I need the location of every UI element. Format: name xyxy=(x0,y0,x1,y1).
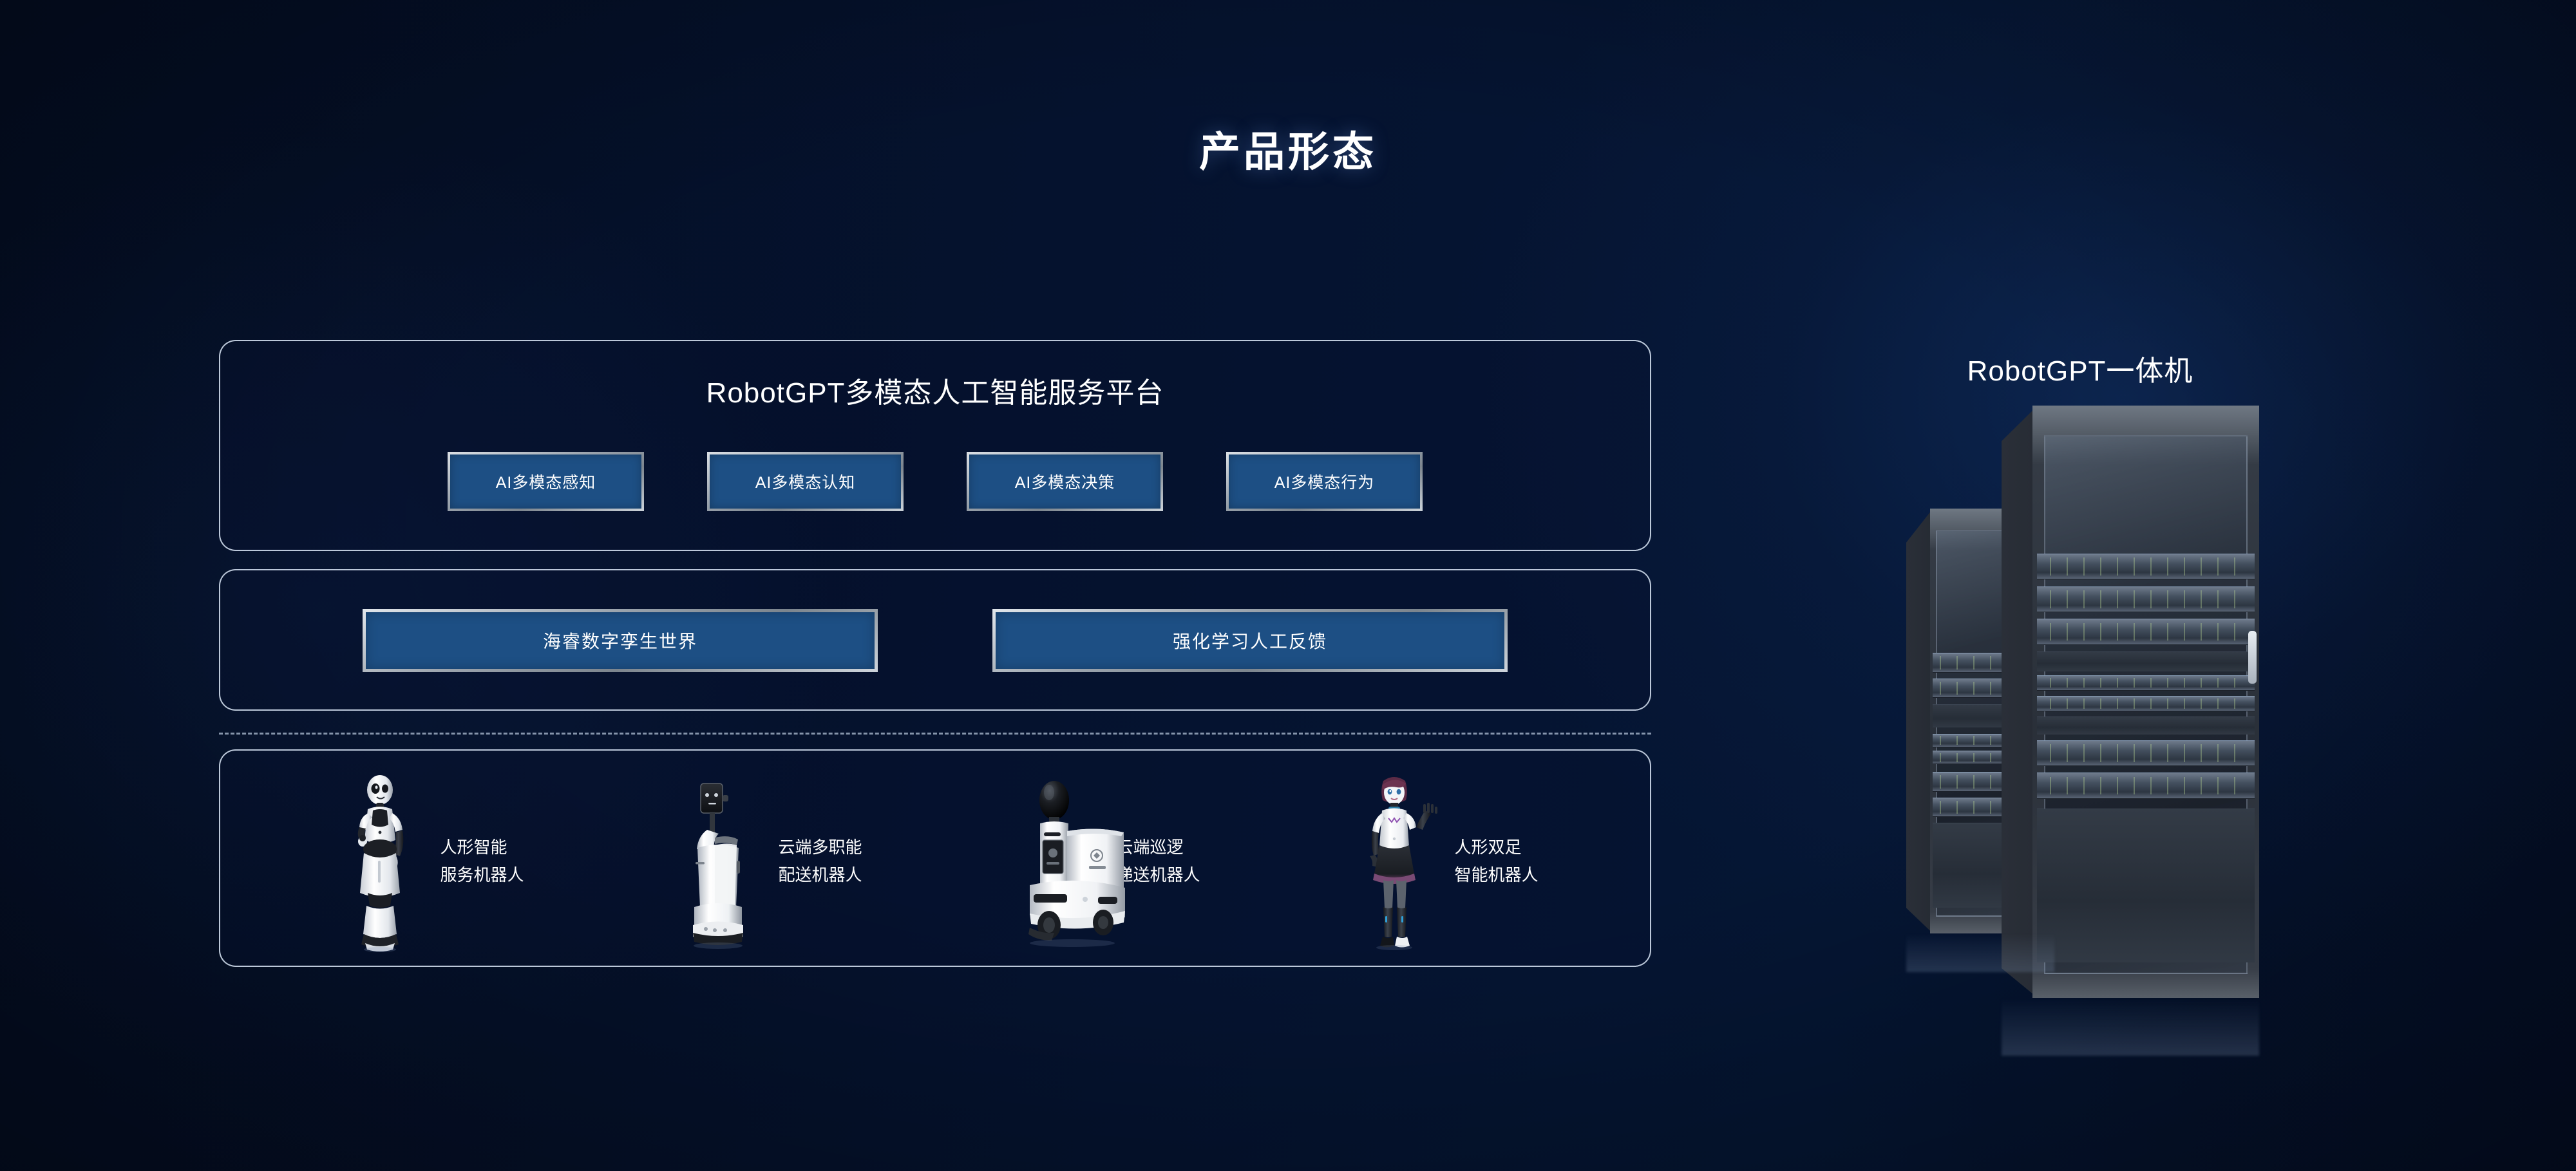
robot-label-line1: 人形双足 xyxy=(1454,834,1538,861)
robot-label-line2: 智能机器人 xyxy=(1454,861,1538,889)
capability-chip-decision[interactable]: AI多模态决策 xyxy=(967,452,1163,511)
engine-button-rlhf[interactable]: 强化学习人工反馈 xyxy=(992,609,1508,672)
appliance-heading: RobotGPT一体机 xyxy=(1887,348,2273,389)
robot-item-humanoid-service[interactable]: 人形智能 服务机器人 xyxy=(332,771,524,952)
robot-label-line2: 配送机器人 xyxy=(778,861,862,889)
capability-chip-perception[interactable]: AI多模态感知 xyxy=(448,452,644,511)
humanoid-service-robot-icon xyxy=(332,771,428,952)
section-divider xyxy=(219,733,1651,735)
robot-label-cloud-delivery: 云端多职能 配送机器人 xyxy=(778,834,862,889)
server-rack-icon xyxy=(1906,406,2267,1024)
robot-label-biped-humanoid: 人形双足 智能机器人 xyxy=(1454,834,1538,889)
robot-item-cloud-patrol[interactable]: 云端巡逻 递送机器人 xyxy=(1008,771,1200,952)
robot-row: 人形智能 服务机器人 xyxy=(259,767,1611,955)
engine-button-row: 海睿数字孪生世界 强化学习人工反馈 xyxy=(220,609,1650,672)
cloud-patrol-robot-icon xyxy=(1008,771,1104,952)
robot-item-cloud-delivery[interactable]: 云端多职能 配送机器人 xyxy=(670,771,862,952)
robot-label-line1: 人形智能 xyxy=(440,834,524,861)
platform-card: RobotGPT多模态人工智能服务平台 AI多模态感知 AI多模态认知 AI多模… xyxy=(219,340,1651,551)
engine-button-digital-twin[interactable]: 海睿数字孪生世界 xyxy=(363,609,878,672)
biped-humanoid-robot-icon xyxy=(1346,771,1443,952)
cloud-delivery-robot-icon xyxy=(670,771,766,952)
rack-reflection-primary xyxy=(2002,998,2259,1056)
server-rack-primary xyxy=(2002,406,2259,998)
robot-label-humanoid-service: 人形智能 服务机器人 xyxy=(440,834,524,889)
robot-card: 人形智能 服务机器人 xyxy=(219,749,1651,967)
rack-reflection-secondary xyxy=(1906,933,2054,972)
capability-chip-cognition[interactable]: AI多模态认知 xyxy=(707,452,904,511)
robot-label-line1: 云端多职能 xyxy=(778,834,862,861)
capability-chip-row: AI多模态感知 AI多模态认知 AI多模态决策 AI多模态行为 xyxy=(220,452,1650,511)
capability-chip-behavior[interactable]: AI多模态行为 xyxy=(1226,452,1423,511)
engine-card: 海睿数字孪生世界 强化学习人工反馈 xyxy=(219,569,1651,711)
page-title: 产品形态 xyxy=(0,119,2576,178)
robot-label-line2: 服务机器人 xyxy=(440,861,524,889)
platform-title: RobotGPT多模态人工智能服务平台 xyxy=(220,370,1650,411)
robot-item-biped-humanoid[interactable]: 人形双足 智能机器人 xyxy=(1346,771,1538,952)
